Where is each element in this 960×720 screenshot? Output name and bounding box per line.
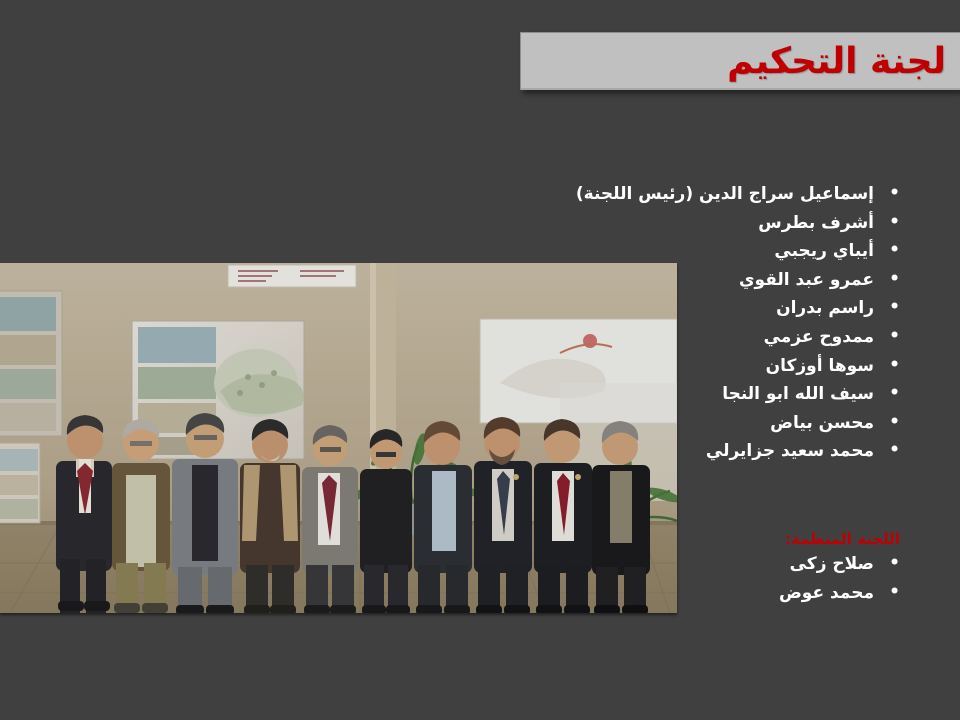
list-item: أشرف بطرس [300, 209, 900, 238]
jury-members-list: إسماعيل سراج الدين (رئيس اللجنة) أشرف بط… [300, 180, 900, 466]
list-item: سوها أوزكان [300, 352, 900, 381]
list-item: سيف الله ابو النجا [300, 380, 900, 409]
list-item: محمد سعيد جزايرلي [300, 437, 900, 466]
list-item: إسماعيل سراج الدين (رئيس اللجنة) [300, 180, 900, 209]
list-item: محسن بياض [300, 409, 900, 438]
presentation-slide: لجنة التحكيم [0, 0, 960, 720]
slide-title-box: لجنة التحكيم [520, 32, 960, 90]
list-item: صلاح زكى [300, 550, 900, 579]
list-item: أيباي ريجبي [300, 237, 900, 266]
list-item: راسم بدران [300, 294, 900, 323]
organizing-committee-heading: اللجنة المنظمة: [785, 529, 900, 549]
list-item: ممدوح عزمي [300, 323, 900, 352]
page-title: لجنة التحكيم [727, 35, 946, 89]
list-item: محمد عوض [300, 579, 900, 608]
list-item: عمرو عبد القوي [300, 266, 900, 295]
organizing-committee-list: صلاح زكى محمد عوض [300, 550, 900, 608]
